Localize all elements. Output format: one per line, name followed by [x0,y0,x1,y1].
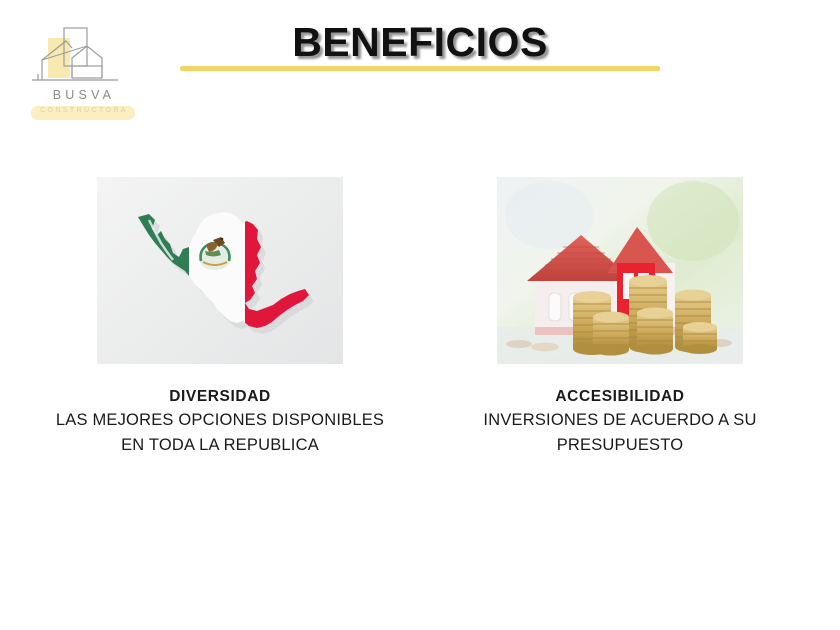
benefit-caption-diversidad: DIVERSIDAD LAS MEJORES OPCIONES DISPONIB… [20,386,420,458]
benefit-body-line-1: LAS MEJORES OPCIONES DISPONIBLES [20,408,420,433]
benefit-caption-accesibilidad: ACCESIBILIDAD INVERSIONES DE ACUERDO A S… [420,386,820,458]
mexico-flag-map-image [97,177,343,364]
benefit-heading: ACCESIBILIDAD [420,386,820,408]
slide-canvas: BUSVA CONSTRUCTORA BENEFICIOS [0,0,840,630]
logo-tagline-pill: CONSTRUCTORA [31,106,135,120]
title-underline-rule [180,66,660,71]
house-and-coins-image [497,177,743,364]
benefit-body-line-1: INVERSIONES DE ACUERDO A SU [420,408,820,433]
buildings-outline-icon [26,26,138,92]
benefit-body-line-2: EN TODA LA REPUBLICA [20,433,420,458]
page-title: BENEFICIOS [180,19,660,66]
company-logo: BUSVA CONSTRUCTORA [26,26,138,122]
benefit-column-accesibilidad: ACCESIBILIDAD INVERSIONES DE ACUERDO A S… [420,177,820,458]
benefit-column-diversidad: DIVERSIDAD LAS MEJORES OPCIONES DISPONIB… [20,177,420,458]
logo-tagline: CONSTRUCTORA [31,107,135,114]
benefit-body-line-2: PRESUPUESTO [420,433,820,458]
benefit-heading: DIVERSIDAD [20,386,420,408]
logo-wordmark: BUSVA [26,88,138,102]
